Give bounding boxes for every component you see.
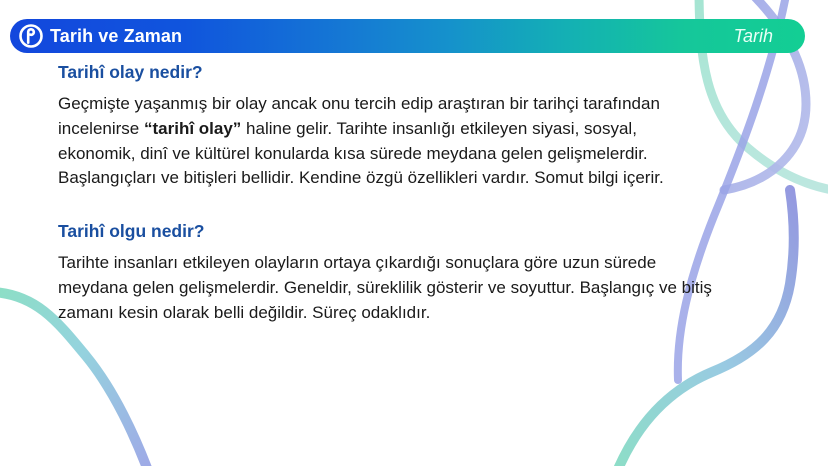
pipo-p-logo-icon — [18, 23, 44, 49]
section-tarihi-olgu: Tarihî olgu nedir? Tarihte insanları etk… — [58, 221, 718, 325]
section-heading-tarihi-olay: Tarihî olay nedir? — [58, 62, 718, 84]
section-body-tarihi-olay: Geçmişte yaşanmış bir olay ancak onu ter… — [58, 92, 718, 191]
slide-content: Tarihî olay nedir? Geçmişte yaşanmış bir… — [58, 62, 718, 329]
slide-canvas: Tarih ve Zaman Tarih Tarihî olay nedir? … — [0, 0, 828, 466]
header-bar: Tarih ve Zaman Tarih — [10, 19, 805, 53]
header-subject-tag: Tarih — [734, 26, 773, 47]
section-spacer — [58, 195, 718, 221]
section-body-tarihi-olgu: Tarihte insanları etkileyen olayların or… — [58, 251, 718, 325]
header-title: Tarih ve Zaman — [50, 26, 182, 47]
body-text-pre: Tarihte insanları etkileyen olayların or… — [58, 253, 712, 322]
body-text-emphasis: “tarihî olay” — [144, 119, 241, 138]
section-tarihi-olay: Tarihî olay nedir? Geçmişte yaşanmış bir… — [58, 62, 718, 191]
section-heading-tarihi-olgu: Tarihî olgu nedir? — [58, 221, 718, 243]
